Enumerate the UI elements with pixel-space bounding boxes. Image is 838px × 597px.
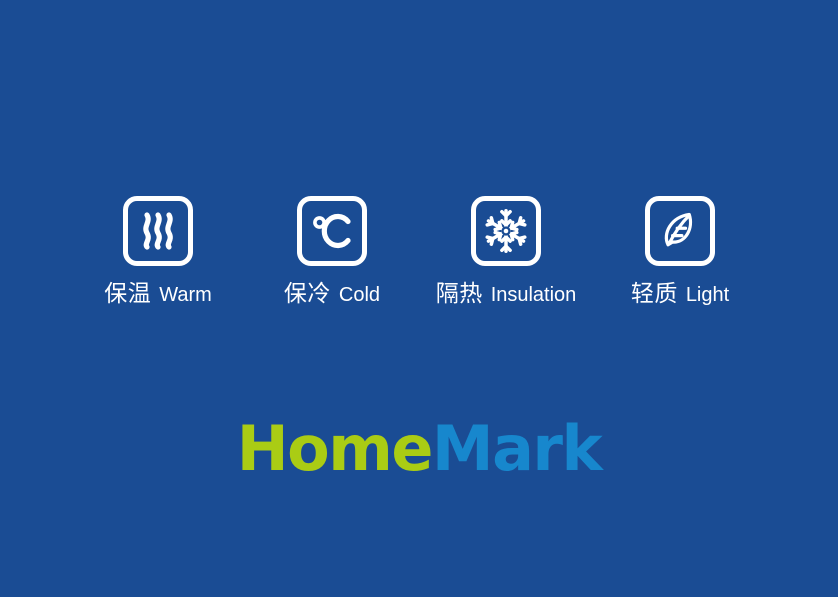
brand-logo: HomeMark (0, 418, 838, 480)
feature-label-en: Cold (339, 285, 380, 305)
celsius-degree-icon (297, 196, 367, 266)
feature-label-en: Light (686, 285, 729, 305)
feature-label-light: 轻质 Light (631, 282, 729, 305)
heat-waves-icon (123, 196, 193, 266)
feature-row: 保温 Warm 保冷 Cold (0, 196, 838, 326)
feature-item-cold: 保冷 Cold (245, 196, 419, 305)
brand-logo-home: Home (237, 412, 432, 485)
feature-label-warm: 保温 Warm (104, 282, 212, 305)
feature-label-cold: 保冷 Cold (284, 282, 380, 305)
snowflake-icon (471, 196, 541, 266)
brand-logo-mark: Mark (432, 412, 601, 485)
poster-canvas: 保温 Warm 保冷 Cold (0, 0, 838, 597)
feature-label-cn: 保温 (104, 282, 151, 305)
feature-item-light: 轻质 Light (593, 196, 767, 305)
feature-label-insulation: 隔热 Insulation (436, 282, 577, 305)
leaf-feather-icon (645, 196, 715, 266)
feature-label-en: Warm (159, 285, 212, 305)
feature-item-insulation: 隔热 Insulation (419, 196, 593, 305)
feature-item-warm: 保温 Warm (71, 196, 245, 305)
feature-label-cn: 轻质 (631, 282, 678, 305)
feature-label-en: Insulation (491, 285, 577, 305)
feature-label-cn: 保冷 (284, 282, 331, 305)
feature-label-cn: 隔热 (436, 282, 483, 305)
